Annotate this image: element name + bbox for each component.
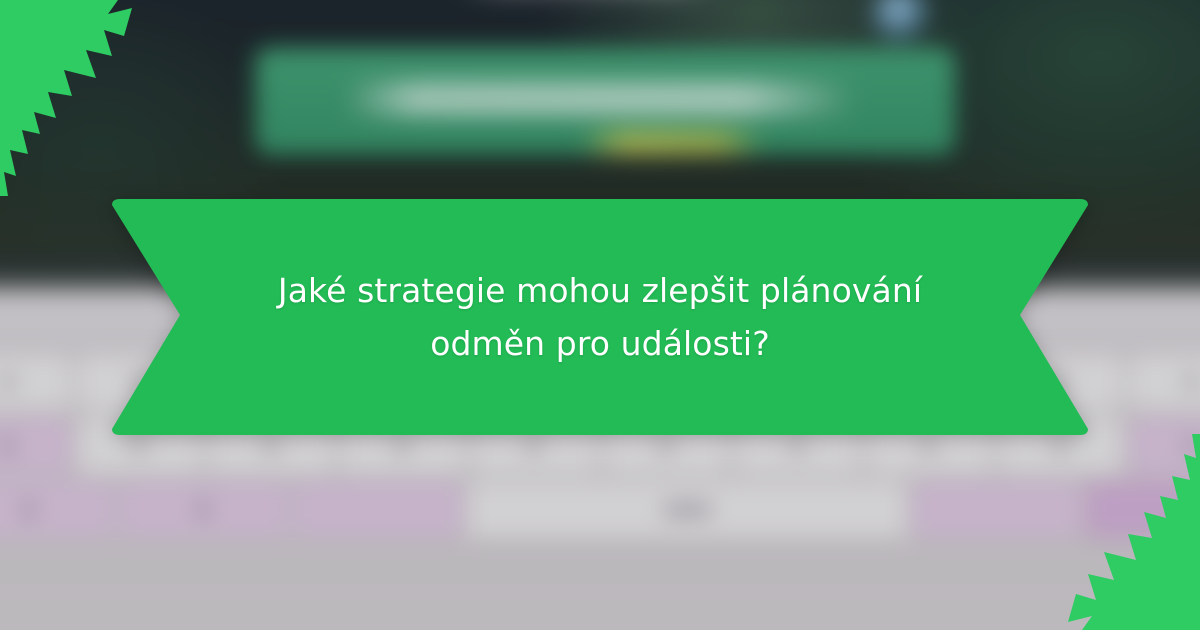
question-line-1: Jaké strategie mohou zlepšit plánování xyxy=(278,264,922,317)
question-line-2: odměn pro události? xyxy=(430,317,770,370)
question-ribbon-text: Jaké strategie mohou zlepšit plánování o… xyxy=(150,197,1050,437)
poster-canvas: Jaké strategie mohou zlepšit plánování o… xyxy=(0,0,1200,630)
